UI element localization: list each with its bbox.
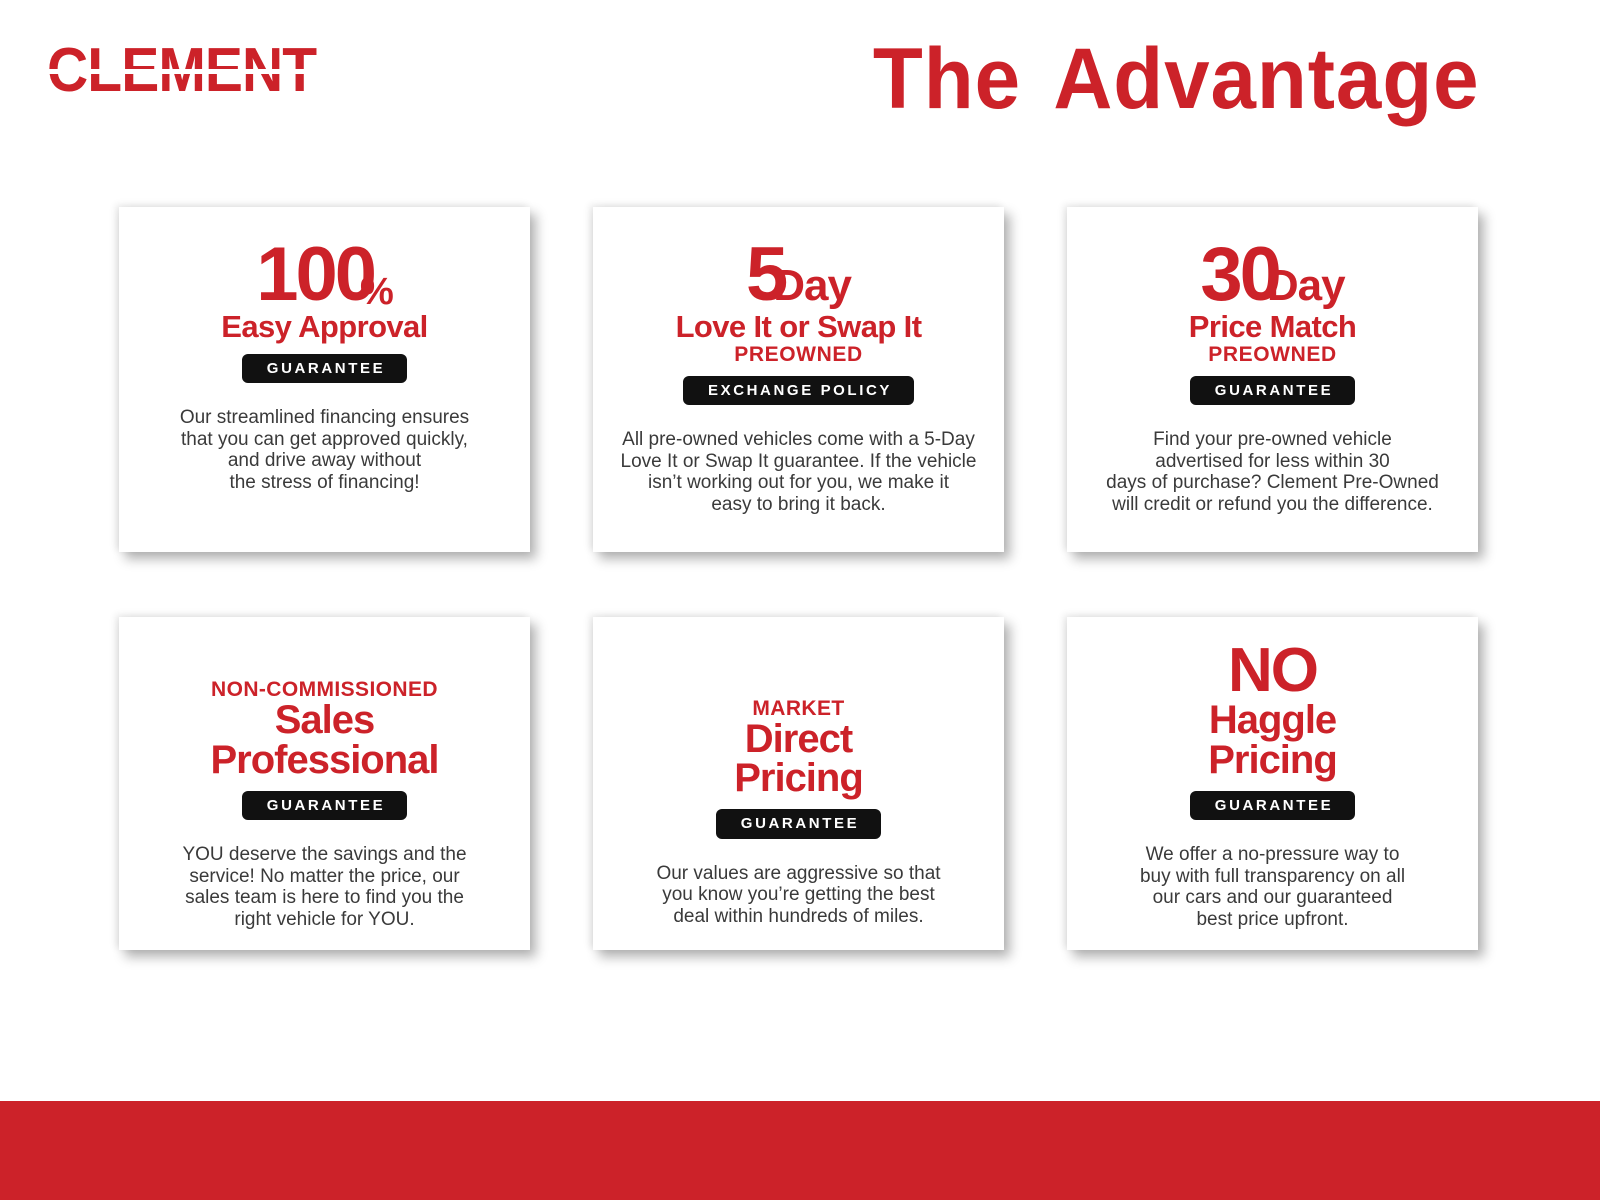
card-subheadline: PREOWNED — [734, 344, 862, 365]
card-badge: GUARANTEE — [1190, 376, 1355, 405]
card-badge: GUARANTEE — [242, 354, 407, 383]
card-big-number-suffix: Day — [1267, 266, 1345, 306]
logo-wordmark: CLEMENT — [47, 36, 316, 105]
card-big-number: 100 — [256, 241, 374, 309]
card-badge: GUARANTEE — [242, 791, 407, 820]
advantage-card-no-haggle-pricing: NOHagglePricingGUARANTEEWe offer a no-pr… — [1067, 617, 1478, 950]
advantage-card-price-match: 30DayPrice MatchPREOWNEDGUARANTEEFind yo… — [1067, 207, 1478, 552]
card-big-number-row: 30Day — [1200, 241, 1344, 309]
card-headline: Direct — [745, 720, 852, 759]
card-body-line: isn’t working out for you, we make it — [621, 472, 977, 494]
advantage-card-grid: 100%Easy ApprovalGUARANTEEOur streamline… — [119, 207, 1479, 950]
card-content: 100%Easy ApprovalGUARANTEEOur streamline… — [137, 223, 512, 532]
card-content: NOHagglePricingGUARANTEEWe offer a no-pr… — [1085, 633, 1460, 930]
footer-red-bar — [0, 1101, 1600, 1200]
card-body-line: advertised for less within 30 — [1106, 451, 1439, 473]
card-badge: GUARANTEE — [716, 809, 881, 838]
card-subheadline: Professional — [210, 741, 438, 780]
card-body-line: the stress of financing! — [180, 472, 469, 494]
card-body-line: Find your pre-owned vehicle — [1106, 429, 1439, 451]
card-body-line: YOU deserve the savings and the — [182, 844, 466, 866]
card-headline: Sales — [275, 701, 375, 740]
card-subheadline: PREOWNED — [1208, 344, 1336, 365]
page-title-word-the: The — [873, 31, 1021, 127]
card-body-line: that you can get approved quickly, — [180, 429, 469, 451]
card-body-line: best price upfront. — [1140, 909, 1405, 931]
card-body-line: our cars and our guaranteed — [1140, 887, 1405, 909]
advantage-card-love-it-or-swap-it: 5DayLove It or Swap ItPREOWNEDEXCHANGE P… — [593, 207, 1004, 552]
clement-logo: CLEMENT — [47, 42, 316, 100]
card-body-copy: Our values are aggressive so thatyou kno… — [656, 863, 940, 928]
card-content: MARKETDirectPricingGUARANTEEOur values a… — [611, 633, 986, 930]
card-body-line: service! No matter the price, our — [182, 866, 466, 888]
card-subheadline: Pricing — [734, 759, 863, 798]
card-body-line: days of purchase? Clement Pre-Owned — [1106, 472, 1439, 494]
advantage-card-direct-pricing: MARKETDirectPricingGUARANTEEOur values a… — [593, 617, 1004, 950]
advantage-card-sales-professional: NON-COMMISSIONEDSalesProfessionalGUARANT… — [119, 617, 530, 950]
card-big-number-row: 5Day — [746, 241, 851, 309]
card-headline: Love It or Swap It — [676, 311, 922, 343]
card-body-line: deal within hundreds of miles. — [656, 906, 940, 928]
card-body-copy: All pre-owned vehicles come with a 5-Day… — [621, 429, 977, 515]
card-body-line: Our streamlined financing ensures — [180, 407, 469, 429]
card-badge: EXCHANGE POLICY — [683, 376, 914, 405]
card-body-line: right vehicle for YOU. — [182, 909, 466, 931]
card-body-line: and drive away without — [180, 450, 469, 472]
card-body-line: buy with full transparency on all — [1140, 866, 1405, 888]
card-body-line: Love It or Swap It guarantee. If the veh… — [621, 451, 977, 473]
card-body-copy: YOU deserve the savings and theservice! … — [182, 844, 466, 930]
card-content: 5DayLove It or Swap ItPREOWNEDEXCHANGE P… — [611, 223, 986, 532]
card-badge: GUARANTEE — [1190, 791, 1355, 820]
card-body-line: will credit or refund you the difference… — [1106, 494, 1439, 516]
card-body-copy: We offer a no-pressure way tobuy with fu… — [1140, 844, 1405, 930]
card-big-number-suffix: % — [360, 275, 393, 309]
card-big-number: NO — [1228, 642, 1317, 701]
card-content: NON-COMMISSIONEDSalesProfessionalGUARANT… — [137, 633, 512, 930]
card-row-top: 100%Easy ApprovalGUARANTEEOur streamline… — [119, 207, 1479, 552]
card-big-number-row: 100% — [256, 241, 393, 309]
card-headline: Price Match — [1189, 311, 1356, 343]
card-body-line: We offer a no-pressure way to — [1140, 844, 1405, 866]
card-body-line: Our values are aggressive so that — [656, 863, 940, 885]
page-title-word-advantage: Advantage — [1054, 31, 1480, 127]
card-body-copy: Find your pre-owned vehicleadvertised fo… — [1106, 429, 1439, 515]
card-body-line: easy to bring it back. — [621, 494, 977, 516]
card-body-line: sales team is here to find you the — [182, 887, 466, 909]
card-subheadline: Pricing — [1208, 741, 1337, 780]
card-big-number-suffix: Day — [773, 266, 851, 306]
card-headline: Easy Approval — [221, 311, 427, 343]
card-body-line: you know you’re getting the best — [656, 884, 940, 906]
card-row-bottom: NON-COMMISSIONEDSalesProfessionalGUARANT… — [119, 617, 1479, 950]
card-body-copy: Our streamlined financing ensuresthat yo… — [180, 407, 469, 493]
page-title: TheAdvantage — [873, 30, 1480, 129]
advantage-card-easy-approval: 100%Easy ApprovalGUARANTEEOur streamline… — [119, 207, 530, 552]
card-headline: Haggle — [1209, 701, 1336, 740]
page-header: CLEMENT TheAdvantage — [0, 0, 1600, 150]
card-content: 30DayPrice MatchPREOWNEDGUARANTEEFind yo… — [1085, 223, 1460, 532]
card-body-line: All pre-owned vehicles come with a 5-Day — [621, 429, 977, 451]
